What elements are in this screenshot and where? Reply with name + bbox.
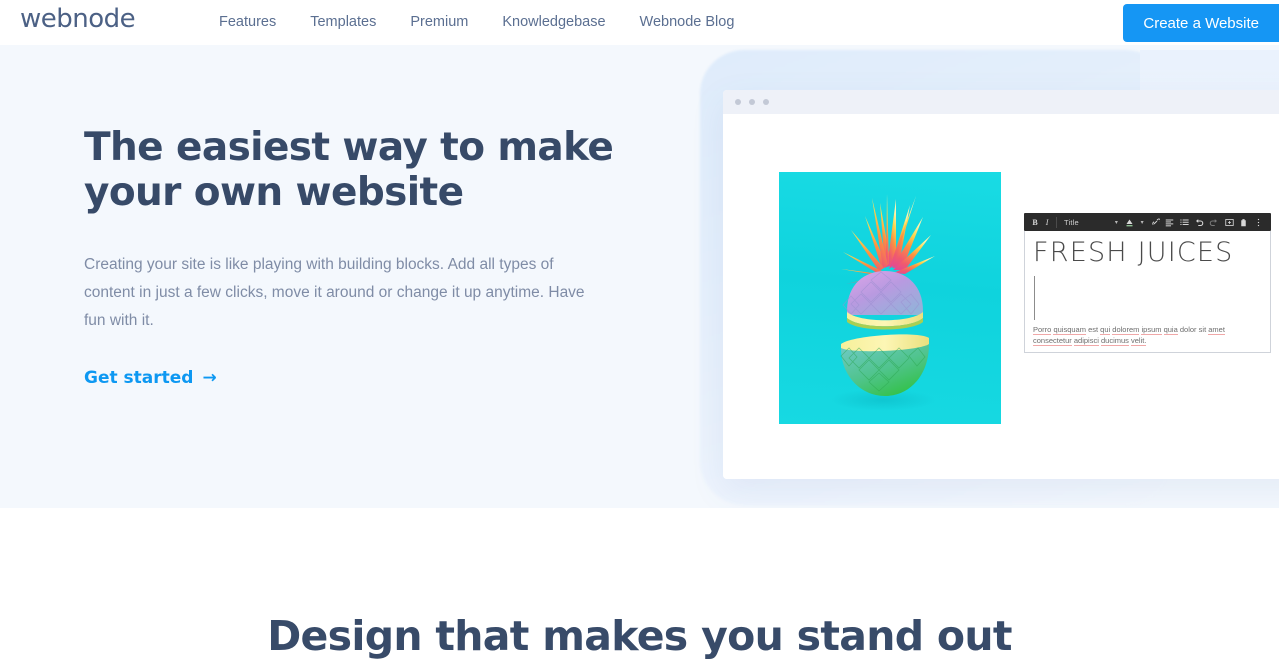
nav-item-templates[interactable]: Templates xyxy=(310,12,376,33)
italic-button[interactable]: I xyxy=(1041,213,1053,231)
design-section-title: Design that makes you stand out xyxy=(0,612,1279,660)
window-dot-minimize-icon xyxy=(749,99,755,105)
text-color-chevron-icon[interactable]: ▾ xyxy=(1137,213,1148,231)
hero-text-block: The easiest way to make your own website… xyxy=(84,125,644,388)
align-left-icon[interactable] xyxy=(1162,213,1177,231)
style-select[interactable]: Title xyxy=(1060,213,1079,231)
editor-toolbar: B I Title ▾ ▾ xyxy=(1024,213,1271,231)
browser-viewport: B I Title ▾ ▾ xyxy=(723,114,1279,479)
hero-paragraph: Creating your site is like playing with … xyxy=(84,251,604,335)
site-header: webnode Features Templates Premium Knowl… xyxy=(0,0,1279,45)
text-cursor xyxy=(1034,276,1035,320)
hero-title: The easiest way to make your own website xyxy=(84,125,644,215)
browser-title-bar xyxy=(723,90,1279,114)
editor-word: quia xyxy=(1164,325,1178,335)
more-options-icon[interactable] xyxy=(1251,213,1266,231)
main-navigation: Features Templates Premium Knowledgebase… xyxy=(219,12,734,33)
editor-word: Porro xyxy=(1033,325,1051,335)
editor-word: ipsum xyxy=(1141,325,1161,335)
nav-item-features[interactable]: Features xyxy=(219,12,276,33)
editor-body-text: Porro quisquam est qui dolorem ipsum qui… xyxy=(1033,324,1259,346)
editor-word: sit xyxy=(1199,325,1207,334)
editor-word: consectetur xyxy=(1033,336,1072,346)
list-icon[interactable] xyxy=(1177,213,1192,231)
undo-icon[interactable] xyxy=(1192,213,1207,231)
text-color-icon[interactable] xyxy=(1122,213,1137,231)
editor-word: dolor xyxy=(1180,325,1197,334)
hero-section: The easiest way to make your own website… xyxy=(0,45,1279,508)
nav-item-premium[interactable]: Premium xyxy=(410,12,468,33)
browser-mockup: B I Title ▾ ▾ xyxy=(723,90,1279,479)
chevron-down-icon[interactable]: ▾ xyxy=(1111,213,1122,231)
editor-canvas[interactable]: FRESH JUICES Porro quisquam est qui dolo… xyxy=(1024,231,1271,353)
editor-word: amet xyxy=(1208,325,1225,335)
bold-button[interactable]: B xyxy=(1029,213,1041,231)
webnode-logo[interactable]: webnode xyxy=(20,4,135,34)
link-icon[interactable] xyxy=(1148,213,1163,231)
text-editor-panel: B I Title ▾ ▾ xyxy=(1024,213,1271,353)
pineapple-image xyxy=(779,172,1001,424)
editor-word: quisquam xyxy=(1053,325,1086,335)
redo-icon[interactable] xyxy=(1207,213,1222,231)
insert-icon[interactable] xyxy=(1222,213,1237,231)
window-dot-maximize-icon xyxy=(763,99,769,105)
design-section: Design that makes you stand out xyxy=(0,508,1279,671)
get-started-link[interactable]: Get started → xyxy=(84,368,217,388)
editor-word: dolorem xyxy=(1112,325,1139,335)
editor-word: qui xyxy=(1100,325,1110,335)
hero-title-line-2: your own website xyxy=(84,170,463,215)
editor-word: adipisci xyxy=(1074,336,1099,346)
editor-word: est xyxy=(1088,325,1098,334)
hero-title-line-1: The easiest way to make xyxy=(84,125,613,170)
window-dot-close-icon xyxy=(735,99,741,105)
toolbar-divider-1 xyxy=(1056,217,1057,228)
nav-item-webnode-blog[interactable]: Webnode Blog xyxy=(640,12,735,33)
arrow-right-icon: → xyxy=(202,370,216,387)
editor-word: velit. xyxy=(1131,336,1146,346)
get-started-label: Get started xyxy=(84,368,193,388)
editor-heading: FRESH JUICES xyxy=(1033,237,1262,269)
editor-word: ducimus xyxy=(1101,336,1129,346)
create-website-button[interactable]: Create a Website xyxy=(1123,4,1279,42)
nav-item-knowledgebase[interactable]: Knowledgebase xyxy=(502,12,605,33)
delete-icon[interactable] xyxy=(1236,213,1251,231)
